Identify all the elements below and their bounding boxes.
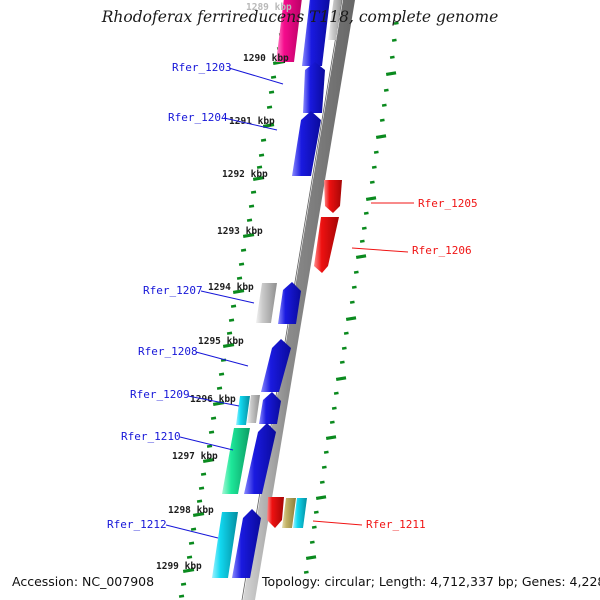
gene-leader-line	[166, 525, 218, 538]
feat-blue-1203[interactable]	[303, 62, 325, 113]
feat-gray-1207[interactable]	[256, 283, 277, 323]
scale-tick-label: 1290 kbp	[243, 53, 289, 64]
genome-map-viewer: 1289 kbp1290 kbp1291 kbp1292 kbp1293 kbp…	[0, 0, 600, 600]
feat-red-1206[interactable]	[314, 217, 339, 273]
feat-red-1211[interactable]	[267, 497, 284, 528]
gene-label-rfer_1210[interactable]: Rfer_1210	[121, 430, 181, 443]
gene-label-rfer_1211[interactable]: Rfer_1211	[366, 518, 426, 531]
scale-tick-label: 1298 kbp	[168, 505, 214, 516]
feat-red-1205[interactable]	[324, 180, 342, 213]
genome-map-canvas[interactable]: 1289 kbp1290 kbp1291 kbp1292 kbp1293 kbp…	[0, 0, 600, 600]
gene-leader-line	[196, 352, 248, 366]
gene-leader-line	[352, 248, 408, 252]
gene-label-rfer_1212[interactable]: Rfer_1212	[107, 518, 167, 531]
genome-stats-label: Topology: circular; Length: 4,712,337 bp…	[261, 574, 600, 589]
scale-tick-label: 1297 kbp	[172, 451, 218, 462]
scale-tick-label: 1295 kbp	[198, 336, 244, 347]
gene-label-rfer_1205[interactable]: Rfer_1205	[418, 197, 478, 210]
scale-tick-label: 1293 kbp	[217, 226, 263, 237]
gene-label-rfer_1203[interactable]: Rfer_1203	[172, 61, 232, 74]
scale-tick-label: 1291 kbp	[229, 116, 275, 127]
gene-label-rfer_1208[interactable]: Rfer_1208	[138, 345, 198, 358]
gene-label-rfer_1206[interactable]: Rfer_1206	[412, 244, 472, 257]
accession-label: Accession: NC_007908	[12, 574, 154, 589]
gene-leader-line	[180, 437, 233, 450]
scale-tick-label: 1292 kbp	[222, 169, 268, 180]
gene-label-rfer_1204[interactable]: Rfer_1204	[168, 111, 228, 124]
gene-leader-line	[313, 521, 362, 525]
scale-tick-label: 1299 kbp	[156, 561, 202, 572]
scale-tick-label: 1296 kbp	[190, 394, 236, 405]
gene-label-rfer_1209[interactable]: Rfer_1209	[130, 388, 190, 401]
scale-tick-label: 1294 kbp	[208, 282, 254, 293]
page-title: Rhodoferax ferrireducens T118, complete …	[101, 8, 499, 26]
feat-spring-1210[interactable]	[222, 428, 250, 494]
gene-label-rfer_1207[interactable]: Rfer_1207	[143, 284, 203, 297]
